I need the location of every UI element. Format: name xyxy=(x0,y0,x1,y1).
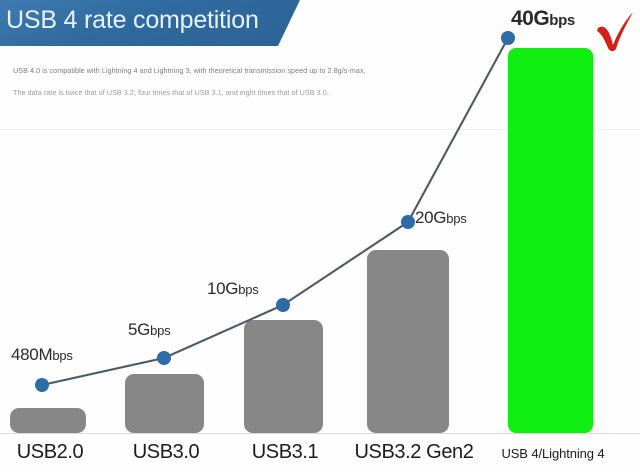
rate-comparison-chart: 480Mbps 5Gbps 10Gbps 20Gbps 40Gbps USB2.… xyxy=(0,0,640,472)
value-label-usb2-0: 480Mbps xyxy=(11,345,73,365)
data-point-usb2-0 xyxy=(35,378,49,392)
bar-usb3-0 xyxy=(125,374,204,433)
red-check-icon xyxy=(592,8,638,54)
value-number-usb3-1: 10G xyxy=(207,279,238,298)
bar-usb2-0 xyxy=(10,408,86,433)
value-unit-usb4: bps xyxy=(549,12,575,29)
value-label-usb3-0: 5Gbps xyxy=(128,320,170,340)
value-number-usb3-2-gen2: 20G xyxy=(415,208,446,227)
category-label-usb3-2-gen2: USB3.2 Gen2 xyxy=(349,441,479,464)
value-unit-usb2-0: bps xyxy=(52,348,72,363)
value-number-usb4: 40G xyxy=(511,7,549,30)
data-point-usb3-0 xyxy=(157,351,171,365)
data-point-usb4 xyxy=(501,31,515,45)
data-point-usb3-1 xyxy=(276,298,290,312)
value-label-usb4: 40Gbps xyxy=(511,7,575,31)
slide-canvas: USB 4 rate competition USB 4.0 is compat… xyxy=(0,0,640,472)
value-unit-usb3-2-gen2: bps xyxy=(446,211,466,226)
bar-usb4-lightning4 xyxy=(508,48,593,433)
category-label-usb3-0: USB3.0 xyxy=(116,441,216,464)
bar-usb3-1 xyxy=(244,320,323,433)
category-label-usb3-1: USB3.1 xyxy=(235,441,335,464)
value-number-usb2-0: 480M xyxy=(11,345,52,364)
value-number-usb3-0: 5G xyxy=(128,320,150,339)
value-label-usb3-1: 10Gbps xyxy=(207,279,259,299)
value-label-usb3-2-gen2: 20Gbps xyxy=(415,208,467,228)
bar-usb3-2-gen2 xyxy=(367,250,449,433)
data-point-usb3-2-gen2 xyxy=(401,215,415,229)
value-unit-usb3-1: bps xyxy=(238,282,258,297)
category-label-usb2-0: USB2.0 xyxy=(0,441,100,464)
value-unit-usb3-0: bps xyxy=(150,323,170,338)
chart-baseline-axis xyxy=(0,433,640,434)
category-label-usb4-lightning4: USB 4/Lightning 4 xyxy=(478,446,628,461)
